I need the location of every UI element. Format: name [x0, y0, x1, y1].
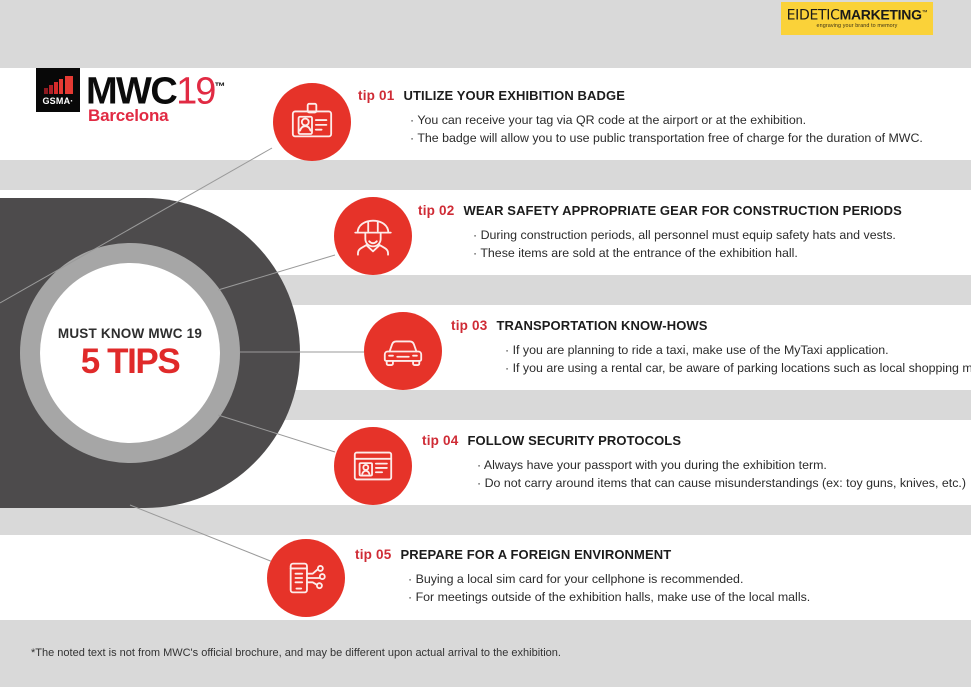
hard-hat-worker-icon — [350, 213, 396, 259]
eidetic-name-part2: MARKETING — [840, 7, 922, 23]
tip-head-05: tip 05 PREPARE FOR A FOREIGN ENVIRONMENT — [355, 547, 810, 562]
tip-line: · For meetings outside of the exhibition… — [408, 589, 810, 607]
tip-lines-03: · If you are planning to ride a taxi, ma… — [505, 342, 971, 377]
gsma-trademark-icon: · — [70, 96, 73, 106]
tip-line: · You can receive your tag via QR code a… — [410, 112, 923, 130]
tip-body-04: tip 04 FOLLOW SECURITY PROTOCOLS · Alway… — [422, 433, 966, 492]
eidetic-wordmark: EIDETICMARKETING™ — [781, 6, 933, 23]
tip-number-05: tip 05 — [355, 547, 391, 562]
smartphone-network-icon — [283, 555, 329, 601]
tip-lines-02: · During construction periods, all perso… — [473, 227, 902, 262]
connector-line-05 — [130, 505, 273, 562]
tip-lines-05: · Buying a local sim card for your cellp… — [408, 571, 810, 606]
tip-icon-circle-02 — [334, 197, 412, 275]
mwc-trademark-icon: ™ — [214, 81, 223, 93]
tip-icon-circle-04 — [334, 427, 412, 505]
tip-number-02: tip 02 — [418, 203, 454, 218]
connector-line-04 — [218, 415, 335, 452]
tip-line: · During construction periods, all perso… — [473, 227, 902, 245]
tip-icon-circle-03 — [364, 312, 442, 390]
tip-title-01: UTILIZE YOUR EXHIBITION BADGE — [403, 88, 625, 103]
tip-title-02: WEAR SAFETY APPROPRIATE GEAR FOR CONSTRU… — [463, 203, 901, 218]
tip-title-05: PREPARE FOR A FOREIGN ENVIRONMENT — [400, 547, 671, 562]
mwc-wordmark: MWC19™ — [86, 67, 224, 112]
tip-line: · If you are using a rental car, be awar… — [505, 360, 971, 378]
tip-icon-circle-05 — [267, 539, 345, 617]
tip-head-02: tip 02 WEAR SAFETY APPROPRIATE GEAR FOR … — [418, 203, 902, 218]
tip-body-03: tip 03 TRANSPORTATION KNOW-HOWS · If you… — [451, 318, 971, 377]
eidetic-trademark-icon: ™ — [922, 10, 928, 16]
eidetic-marketing-logo: EIDETICMARKETING™ engraving your brand t… — [781, 2, 933, 35]
tip-line: · These items are sold at the entrance o… — [473, 245, 902, 263]
tip-lines-01: · You can receive your tag via QR code a… — [410, 112, 923, 147]
eidetic-tagline: engraving your brand to memory — [781, 23, 933, 30]
tip-line: · Do not carry around items that can cau… — [477, 475, 966, 493]
gsma-label: GSMA· — [36, 96, 80, 106]
eidetic-name-part1: EIDETIC — [787, 8, 840, 24]
tip-body-01: tip 01 UTILIZE YOUR EXHIBITION BADGE · Y… — [358, 88, 923, 147]
id-card-icon — [350, 443, 396, 489]
tip-title-04: FOLLOW SECURITY PROTOCOLS — [467, 433, 681, 448]
tip-title-03: TRANSPORTATION KNOW-HOWS — [496, 318, 707, 333]
gsma-label-text: GSMA — [42, 96, 70, 106]
connector-line-01 — [0, 148, 272, 303]
tip-line: · If you are planning to ride a taxi, ma… — [505, 342, 971, 360]
tip-line: · Buying a local sim card for your cellp… — [408, 571, 810, 589]
tip-body-05: tip 05 PREPARE FOR A FOREIGN ENVIRONMENT… — [355, 547, 810, 606]
mwc-year: 19 — [176, 71, 214, 113]
tip-lines-04: · Always have your passport with you dur… — [477, 457, 966, 492]
mwc19-logo: GSMA· MWC19™ Barcelona — [36, 68, 242, 128]
infographic-canvas: MUST KNOW MWC 19 5 TIPS EIDETICMARKETING… — [0, 0, 971, 687]
gsma-badge: GSMA· — [36, 68, 80, 112]
tip-line: · Always have your passport with you dur… — [477, 457, 966, 475]
tip-head-01: tip 01 UTILIZE YOUR EXHIBITION BADGE — [358, 88, 923, 103]
tip-number-03: tip 03 — [451, 318, 487, 333]
mwc-city: Barcelona — [88, 106, 168, 126]
tip-body-02: tip 02 WEAR SAFETY APPROPRIATE GEAR FOR … — [418, 203, 902, 262]
connector-line-02 — [218, 255, 335, 290]
footnote: *The noted text is not from MWC's offici… — [31, 647, 561, 659]
tip-head-04: tip 04 FOLLOW SECURITY PROTOCOLS — [422, 433, 966, 448]
tip-icon-circle-01 — [273, 83, 351, 161]
gsma-bars-icon — [44, 76, 73, 94]
car-icon — [380, 328, 426, 374]
tip-line: · The badge will allow you to use public… — [410, 130, 923, 148]
tip-number-01: tip 01 — [358, 88, 394, 103]
tip-head-03: tip 03 TRANSPORTATION KNOW-HOWS — [451, 318, 971, 333]
id-badge-icon — [289, 99, 335, 145]
tip-number-04: tip 04 — [422, 433, 458, 448]
